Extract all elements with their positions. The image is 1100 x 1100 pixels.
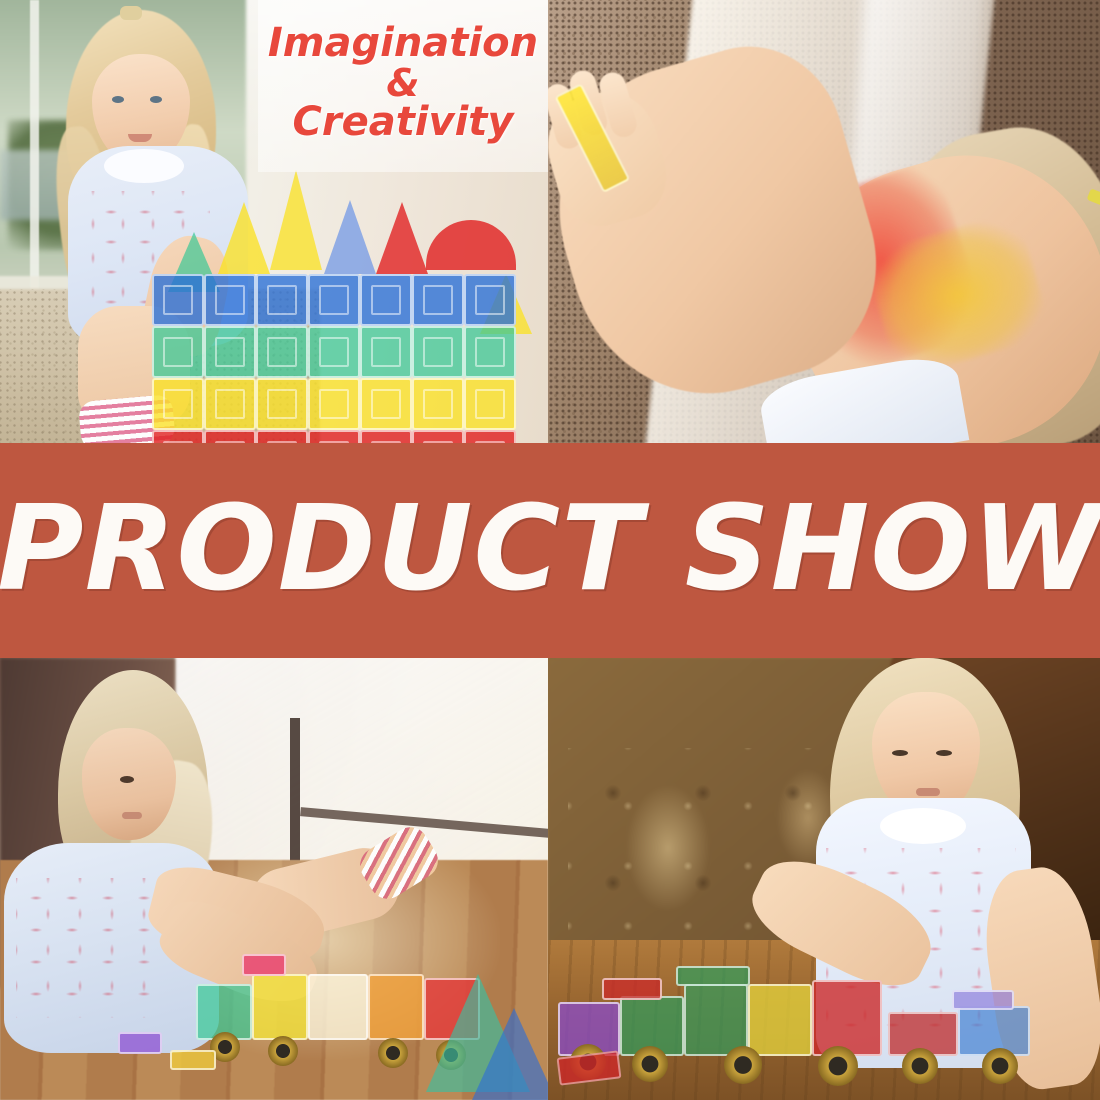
tile-square-green	[464, 326, 516, 378]
tile-square-blue	[204, 274, 256, 326]
caption-line: Imagination	[268, 23, 538, 64]
tile-roof-green	[676, 966, 750, 986]
tile-square-yellow	[256, 378, 308, 430]
mouth	[916, 788, 940, 796]
tile-square-yellow	[360, 378, 412, 430]
tile-square-green	[204, 326, 256, 378]
tile-square-blue	[360, 274, 412, 326]
photo-girl-holding-tile-to-sun	[548, 0, 1100, 443]
tile-square-red	[152, 430, 204, 443]
mouth	[122, 812, 142, 819]
eye-right	[936, 750, 952, 756]
train-wheel	[902, 1048, 938, 1084]
eye-left	[892, 750, 908, 756]
tile-square-green	[412, 326, 464, 378]
tile-square-yellow	[152, 378, 204, 430]
tile-square-green	[256, 326, 308, 378]
train-wheel	[982, 1048, 1018, 1084]
train-wheel	[724, 1046, 762, 1084]
train-wheel	[818, 1046, 858, 1086]
eye	[120, 776, 134, 783]
tile-triangle-yellow-1	[218, 202, 270, 274]
product-show-banner: PRODUCT SHOW	[0, 443, 1100, 658]
tile-rectangle-purple	[118, 1032, 162, 1054]
panel-logical-thinking: Logical Thinking & Problem Solving	[0, 658, 548, 1100]
tile-roof-blue	[952, 990, 1014, 1010]
tile-square-red	[412, 430, 464, 443]
panel-translucency-shapes: Good Translucency & Different Shapes	[548, 0, 1100, 443]
dress-floral-pattern	[16, 878, 166, 1018]
banner-title: PRODUCT SHOW	[0, 489, 1100, 613]
tile-square-green	[360, 326, 412, 378]
tile-triangle-blue	[324, 200, 376, 274]
photo-girl-building-train-by-window	[0, 658, 548, 1100]
photo-girl-with-train-on-table	[548, 658, 1100, 1100]
tile-roof-pink	[242, 954, 286, 976]
tile-square-red	[256, 430, 308, 443]
magnetic-tile-train-long	[558, 950, 1078, 1090]
dress-collar	[880, 808, 966, 844]
train-wheel	[268, 1036, 298, 1066]
tile-square-yellow	[204, 378, 256, 430]
tile-square-green	[308, 326, 360, 378]
tile-square-blue	[308, 274, 360, 326]
hair-tie	[120, 6, 142, 20]
tile-square-green	[152, 326, 204, 378]
caption-line: &	[386, 64, 419, 103]
eye-left	[112, 96, 124, 103]
tile-triangle-blue-standing	[472, 1008, 548, 1100]
tile-square-yellow	[412, 378, 464, 430]
tile-square-yellow	[252, 974, 308, 1040]
tile-square-blue	[412, 274, 464, 326]
caption-line: Creativity	[292, 102, 513, 143]
tile-square-green	[684, 984, 748, 1056]
tile-square-yellow	[748, 984, 812, 1056]
tile-square-yellow	[308, 378, 360, 430]
tile-triangle-yellow-2	[270, 170, 322, 270]
tile-square-blue	[256, 274, 308, 326]
tile-rectangle-red-loose	[557, 1050, 622, 1085]
caption-imagination-creativity: Imagination & Creativity	[258, 0, 548, 172]
tile-square-orange	[368, 974, 424, 1040]
tile-square-clear	[308, 974, 368, 1040]
tile-rectangle-yellow	[170, 1050, 216, 1070]
tile-square-red	[204, 430, 256, 443]
train-wheel	[378, 1038, 408, 1068]
tile-square-red	[464, 430, 516, 443]
dress-collar	[104, 149, 184, 183]
tile-square-blue	[464, 274, 516, 326]
tile-square-blue	[152, 274, 204, 326]
magnetic-tile-castle	[128, 180, 548, 443]
tile-square-red	[308, 430, 360, 443]
panel-motor-skill: Motor Skill & Hand-Eye Coordination	[548, 658, 1100, 1100]
tile-dome-red	[426, 220, 516, 270]
panel-imagination-creativity: Imagination & Creativity	[0, 0, 548, 443]
tile-triangle-red	[376, 202, 428, 274]
tile-roof-red	[602, 978, 662, 1000]
train-wheel	[632, 1046, 668, 1082]
tile-square-red	[812, 980, 882, 1056]
product-show-collage: Imagination & Creativity Good	[0, 0, 1100, 1100]
tile-square-yellow	[464, 378, 516, 430]
eye-right	[150, 96, 162, 103]
tile-square-red	[360, 430, 412, 443]
